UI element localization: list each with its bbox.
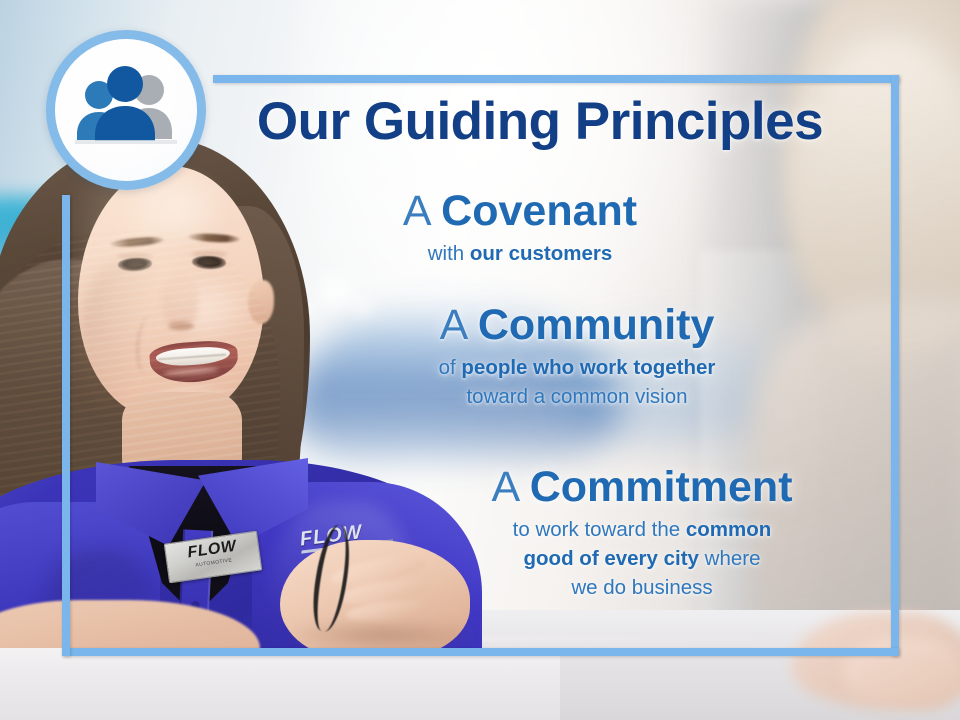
- principle-community-sub-plain: of: [439, 356, 462, 379]
- principle-commitment-sub-bold1: common: [686, 518, 771, 541]
- principle-covenant-title: A Covenant: [300, 186, 740, 236]
- principle-community-word: Community: [478, 301, 715, 349]
- principle-commitment-sub-bold2: good of every city: [524, 547, 699, 570]
- principle-commitment-sub-plain2: where: [699, 547, 761, 570]
- principle-covenant-sub-plain: with: [428, 242, 470, 265]
- principle-community-sub-line2: toward a common vision: [466, 385, 687, 408]
- principle-commitment-title: A Commitment: [412, 462, 872, 512]
- hair-sheen: [60, 170, 220, 350]
- principle-community-subtitle: of people who work together toward a com…: [352, 353, 802, 411]
- people-group-icon-badge: [46, 30, 206, 190]
- principle-commitment-word: Commitment: [530, 463, 793, 511]
- principle-commitment: A Commitment to work toward the common g…: [412, 462, 872, 602]
- principle-commitment-subtitle: to work toward the common good of every …: [412, 515, 872, 602]
- principle-covenant-word: Covenant: [441, 187, 637, 235]
- hand-shadow: [286, 624, 476, 650]
- principle-covenant-subtitle: with our customers: [300, 239, 740, 268]
- principle-commitment-lead: A: [491, 463, 517, 511]
- principle-commitment-sub-plain1: to work toward the: [513, 518, 686, 541]
- principle-covenant-sub-bold: our customers: [470, 242, 612, 265]
- table-top-left: [0, 648, 560, 720]
- principle-community-lead: A: [440, 301, 466, 349]
- principle-community-title: A Community: [352, 300, 802, 350]
- principle-community: A Community of people who work together …: [352, 300, 802, 411]
- people-group-icon: [75, 65, 177, 151]
- principle-covenant: A Covenant with our customers: [300, 186, 740, 268]
- principle-community-sub-bold: people who work together: [461, 356, 715, 379]
- poster-canvas: FLOW FLOW AUTOMOTIVE: [0, 0, 960, 720]
- principle-covenant-lead: A: [403, 187, 429, 235]
- page-title: Our Guiding Principles: [210, 94, 870, 150]
- customer-hand-fingers: [842, 636, 960, 706]
- principle-commitment-sub-line3: we do business: [571, 576, 712, 599]
